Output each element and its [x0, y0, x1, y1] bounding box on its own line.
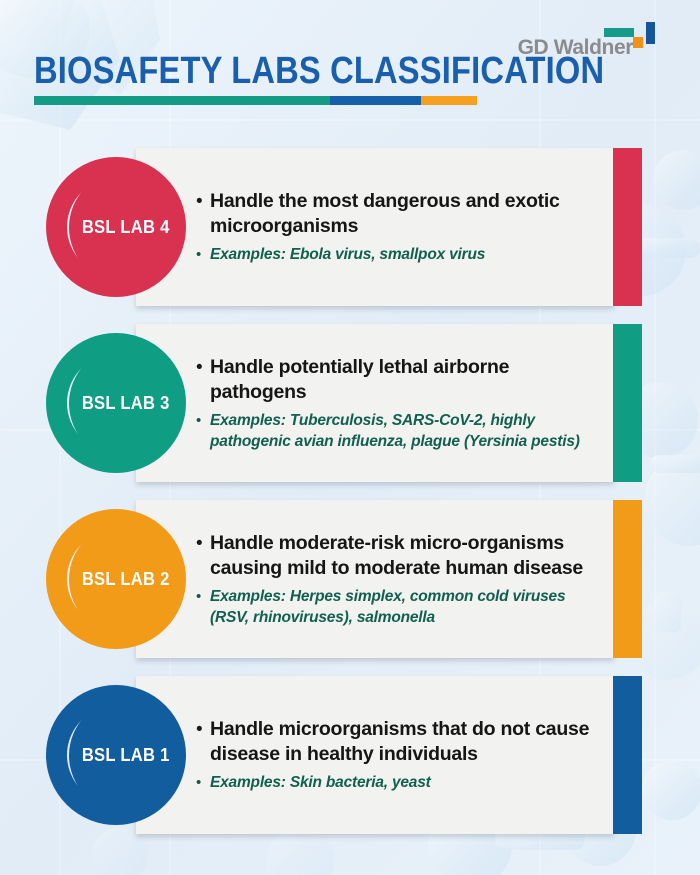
row-accent-bar	[613, 148, 642, 306]
row-example-bullet: •Examples: Herpes simplex, common cold v…	[196, 586, 603, 628]
bullet-dot-icon: •	[196, 586, 210, 608]
page-title: BIOSAFETY LABS CLASSIFICATION	[34, 52, 604, 90]
classification-row: BSL LAB 4•Handle the most dangerous and …	[0, 140, 700, 314]
row-content: •Handle the most dangerous and exotic mi…	[196, 148, 611, 306]
bsl-level-badge[interactable]: BSL LAB 3	[46, 324, 186, 482]
badge-label: BSL LAB 4	[82, 217, 170, 238]
bullet-dot-icon: •	[196, 410, 210, 432]
classification-row: BSL LAB 1•Handle microorganisms that do …	[0, 668, 700, 842]
row-main-text: Handle microorganisms that do not cause …	[210, 717, 603, 767]
row-example-text: Examples: Tuberculosis, SARS-CoV-2, high…	[210, 410, 603, 452]
badge-disc: BSL LAB 3	[69, 347, 182, 460]
rule-segment-teal	[34, 96, 330, 105]
badge-label: BSL LAB 2	[82, 569, 170, 590]
classification-list: BSL LAB 4•Handle the most dangerous and …	[0, 140, 700, 844]
row-example-text: Examples: Herpes simplex, common cold vi…	[210, 586, 603, 628]
bullet-dot-icon: •	[196, 189, 210, 214]
row-accent-bar	[613, 324, 642, 482]
bullet-dot-icon: •	[196, 717, 210, 742]
row-content: •Handle moderate-risk micro-organisms ca…	[196, 500, 611, 658]
logo-orange-bar-icon	[633, 37, 643, 48]
row-main-bullet: •Handle microorganisms that do not cause…	[196, 717, 603, 767]
row-content: •Handle microorganisms that do not cause…	[196, 676, 611, 834]
row-example-bullet: •Examples: Tuberculosis, SARS-CoV-2, hig…	[196, 410, 603, 452]
row-main-bullet: •Handle potentially lethal airborne path…	[196, 355, 603, 405]
row-example-bullet: •Examples: Skin bacteria, yeast	[196, 772, 603, 794]
row-main-bullet: •Handle the most dangerous and exotic mi…	[196, 189, 603, 239]
bullet-dot-icon: •	[196, 531, 210, 556]
rule-segment-blue	[330, 96, 421, 105]
logo-blue-bar-icon	[646, 22, 655, 44]
bullet-dot-icon: •	[196, 244, 210, 266]
bullet-dot-icon: •	[196, 355, 210, 380]
row-main-bullet: •Handle moderate-risk micro-organisms ca…	[196, 531, 603, 581]
logo-teal-bar-icon	[604, 28, 634, 37]
bsl-level-badge[interactable]: BSL LAB 4	[46, 148, 186, 306]
classification-row: BSL LAB 3•Handle potentially lethal airb…	[0, 316, 700, 490]
badge-disc: BSL LAB 4	[69, 171, 182, 284]
rule-segment-orange	[421, 96, 477, 105]
bsl-level-badge[interactable]: BSL LAB 2	[46, 500, 186, 658]
title-underline-rule	[34, 96, 477, 105]
row-content: •Handle potentially lethal airborne path…	[196, 324, 611, 482]
row-example-text: Examples: Ebola virus, smallpox virus	[210, 244, 485, 265]
classification-row: BSL LAB 2•Handle moderate-risk micro-org…	[0, 492, 700, 666]
row-main-text: Handle the most dangerous and exotic mic…	[210, 189, 603, 239]
row-accent-bar	[613, 676, 642, 834]
row-main-text: Handle potentially lethal airborne patho…	[210, 355, 603, 405]
row-main-text: Handle moderate-risk micro-organisms cau…	[210, 531, 603, 581]
row-accent-bar	[613, 500, 642, 658]
badge-label: BSL LAB 1	[82, 745, 170, 766]
bsl-level-badge[interactable]: BSL LAB 1	[46, 676, 186, 834]
row-example-bullet: •Examples: Ebola virus, smallpox virus	[196, 244, 603, 266]
badge-disc: BSL LAB 2	[69, 523, 182, 636]
badge-disc: BSL LAB 1	[69, 699, 182, 812]
bullet-dot-icon: •	[196, 772, 210, 794]
page-header: GD Waldner BIOSAFETY LABS CLASSIFICATION	[0, 0, 700, 130]
badge-label: BSL LAB 3	[82, 393, 170, 414]
brand-logo-marks	[634, 22, 676, 58]
row-example-text: Examples: Skin bacteria, yeast	[210, 772, 431, 793]
